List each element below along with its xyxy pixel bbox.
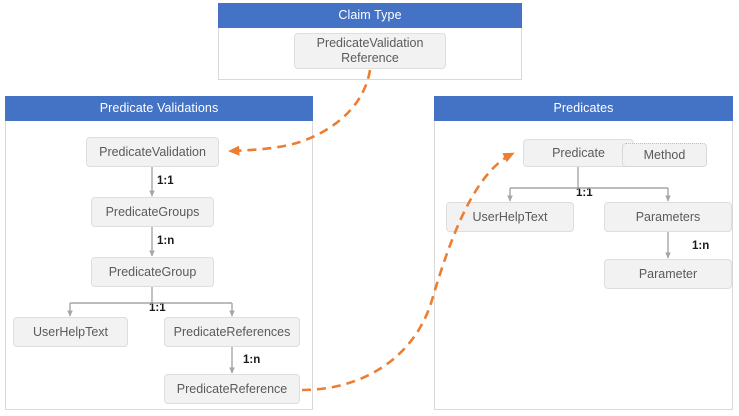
box-predicate-group[interactable]: PredicateGroup	[91, 257, 214, 287]
box-user-help-text-predicates[interactable]: UserHelpText	[446, 202, 574, 232]
box-predicate[interactable]: Predicate	[523, 139, 634, 167]
diagram-canvas: Claim Type Predicate Validations Predica…	[0, 0, 739, 416]
label-group-to-children: 1:1	[149, 303, 166, 315]
box-parameter[interactable]: Parameter	[604, 259, 732, 289]
box-predicate-reference[interactable]: PredicateReference	[164, 374, 300, 404]
panel-header-claim-type: Claim Type	[218, 3, 522, 28]
label-validation-to-groups: 1:1	[157, 176, 174, 188]
box-predicate-validation[interactable]: PredicateValidation	[86, 137, 219, 167]
label-parameters-to-parameter: 1:n	[692, 241, 709, 253]
box-predicate-groups[interactable]: PredicateGroups	[91, 197, 214, 227]
label-predicate-to-children: 1:1	[576, 188, 593, 200]
panel-header-predicate-validations: Predicate Validations	[5, 96, 313, 121]
box-predicate-validation-reference[interactable]: PredicateValidation Reference	[294, 33, 446, 69]
box-user-help-text-validations[interactable]: UserHelpText	[13, 317, 128, 347]
label-references-to-reference: 1:n	[243, 355, 260, 367]
box-method[interactable]: Method	[622, 143, 707, 167]
panel-header-predicates: Predicates	[434, 96, 733, 121]
label-groups-to-group: 1:n	[157, 236, 174, 248]
box-parameters[interactable]: Parameters	[604, 202, 732, 232]
box-predicate-references[interactable]: PredicateReferences	[164, 317, 300, 347]
